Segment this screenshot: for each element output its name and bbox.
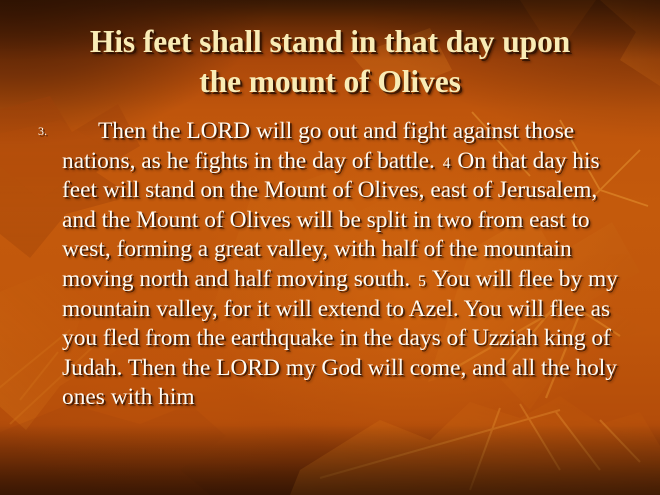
presentation-slide: His feet shall stand in that day upon th… — [0, 0, 660, 495]
verse-number: 4 — [441, 155, 452, 172]
slide-title: His feet shall stand in that day upon th… — [28, 22, 632, 102]
body-paragraph-row: 3. Then the LORD will go out and fight a… — [32, 117, 632, 413]
verse-number: 5 — [416, 273, 427, 290]
list-number: 3. — [32, 117, 62, 146]
slide-body: 3. Then the LORD will go out and fight a… — [32, 117, 632, 413]
scripture-text: Then the LORD will go out and fight agai… — [62, 117, 632, 413]
slide-content: His feet shall stand in that day upon th… — [0, 0, 660, 495]
